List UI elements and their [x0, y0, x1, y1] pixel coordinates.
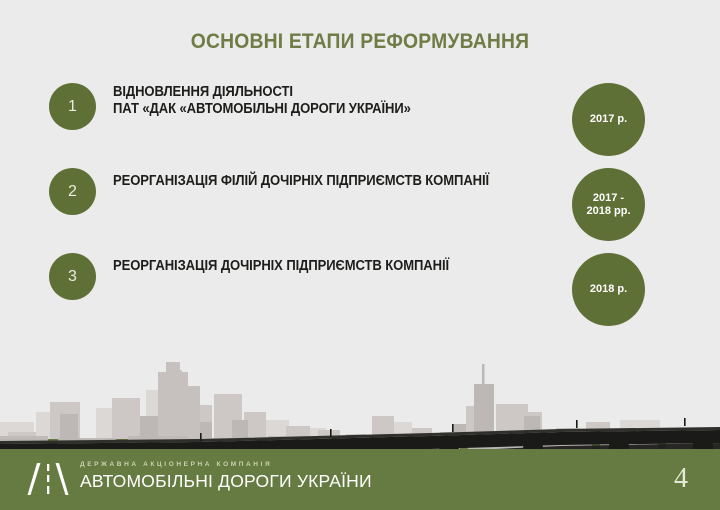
step-text-line1: ВІДНОВЛЕННЯ ДІЯЛЬНОСТІ: [113, 84, 293, 100]
step-text: РЕОРГАНІЗАЦІЯ ФІЛІЙ ДОЧІРНІХ ПІДПРИЄМСТВ…: [113, 173, 518, 190]
step-date-line1: 2017 р.: [590, 113, 627, 126]
step-number-label: 1: [68, 98, 77, 116]
step-text-line1: РЕОРГАНІЗАЦІЯ ФІЛІЙ ДОЧІРНІХ ПІДПРИЄМСТВ…: [113, 173, 489, 189]
step-number-badge: 1: [49, 83, 96, 130]
step-row: 3 РЕОРГАНІЗАЦІЯ ДОЧІРНІХ ПІДПРИЄМСТВ КОМ…: [0, 253, 720, 338]
step-number-badge: 3: [49, 253, 96, 300]
step-row: 2 РЕОРГАНІЗАЦІЯ ФІЛІЙ ДОЧІРНІХ ПІДПРИЄМС…: [0, 168, 720, 253]
step-date-line2: 2018 рр.: [586, 205, 630, 218]
step-text-line2: ПАТ «ДАК «АВТОМОБІЛЬНІ ДОРОГИ УКРАЇНИ»: [113, 101, 518, 118]
step-date-badge: 2017 - 2018 рр.: [572, 168, 645, 241]
road-logo-icon: [27, 461, 69, 497]
step-number-label: 2: [68, 183, 77, 201]
step-number-badge: 2: [49, 168, 96, 215]
step-row: 1 ВІДНОВЛЕННЯ ДІЯЛЬНОСТІ ПАТ «ДАК «АВТОМ…: [0, 83, 720, 168]
footer-logo-text: ДЕРЖАВНА АКЦІОНЕРНА КОМПАНІЯ АВТОМОБІЛЬН…: [80, 461, 372, 492]
company-caption: ДЕРЖАВНА АКЦІОНЕРНА КОМПАНІЯ: [80, 461, 372, 468]
page-title: ОСНОВНІ ЕТАПИ РЕФОРМУВАННЯ: [29, 30, 691, 54]
step-text: ВІДНОВЛЕННЯ ДІЯЛЬНОСТІ ПАТ «ДАК «АВТОМОБ…: [113, 84, 518, 117]
steps-list: 1 ВІДНОВЛЕННЯ ДІЯЛЬНОСТІ ПАТ «ДАК «АВТОМ…: [0, 83, 720, 338]
step-text: РЕОРГАНІЗАЦІЯ ДОЧІРНІХ ПІДПРИЄМСТВ КОМПА…: [113, 258, 518, 275]
step-number-label: 3: [68, 268, 77, 286]
footer-bar: ДЕРЖАВНА АКЦІОНЕРНА КОМПАНІЯ АВТОМОБІЛЬН…: [0, 449, 720, 510]
page-number: 4: [674, 463, 688, 495]
step-date-badge: 2018 р.: [572, 253, 645, 326]
company-name: АВТОМОБІЛЬНІ ДОРОГИ УКРАЇНИ: [80, 471, 372, 492]
step-date-badge: 2017 р.: [572, 83, 645, 156]
step-date-line1: 2018 р.: [590, 283, 627, 296]
step-text-line1: РЕОРГАНІЗАЦІЯ ДОЧІРНІХ ПІДПРИЄМСТВ КОМПА…: [113, 258, 449, 274]
step-date-line1: 2017 -: [593, 192, 624, 205]
slide-root: ОСНОВНІ ЕТАПИ РЕФОРМУВАННЯ 1 ВІДНОВЛЕННЯ…: [0, 0, 720, 510]
